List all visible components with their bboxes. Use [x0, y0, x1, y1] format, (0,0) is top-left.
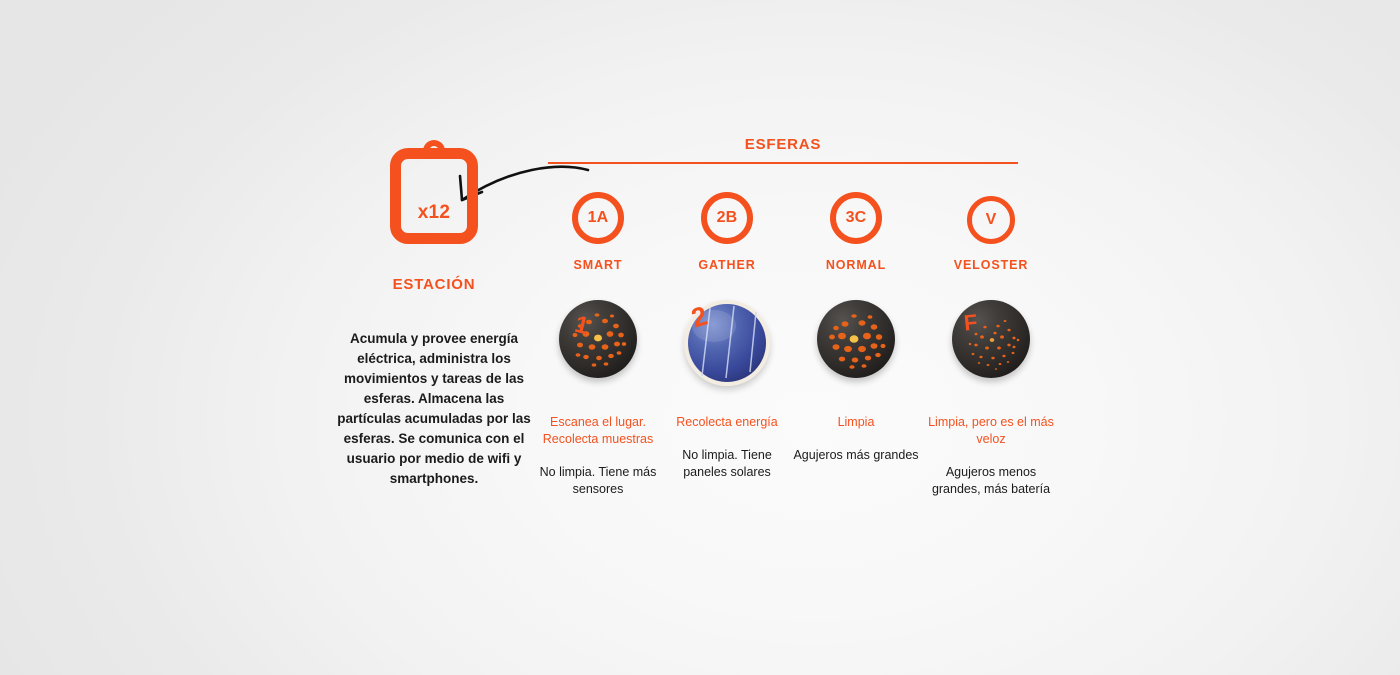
- sphere-image-row: F: [925, 300, 1057, 392]
- station-count-label: x12: [418, 202, 451, 224]
- sphere-ball-smart: 1: [559, 300, 637, 378]
- sphere-caption-primary: Recolecta energía: [661, 414, 793, 431]
- station-name: ESTACIÓN: [330, 276, 538, 293]
- sphere-code-badge[interactable]: V: [967, 196, 1015, 244]
- station-column: x12 ESTACIÓN Acumula y provee energía el…: [330, 140, 538, 489]
- sphere-column-smart: 1A SMART: [532, 186, 664, 498]
- station-icon: x12: [330, 140, 538, 252]
- esferas-header: ESFERAS: [548, 136, 1018, 164]
- sphere-badge-row: 3C: [790, 186, 922, 262]
- infographic-canvas: ESFERAS x12 ESTACIÓN Acumula y provee en…: [0, 0, 1400, 675]
- station-description: Acumula y provee energía eléctrica, admi…: [330, 329, 538, 489]
- sphere-badge-row: 1A: [532, 186, 664, 262]
- station-body-icon: [390, 148, 478, 244]
- sphere-caption-primary: Limpia, pero es el más veloz: [925, 414, 1057, 448]
- sphere-caption-secondary: Agujeros más grandes: [790, 447, 922, 464]
- sphere-image-row: [790, 300, 922, 392]
- sphere-code-badge[interactable]: 3C: [830, 192, 882, 244]
- sphere-badge-row: 2B: [661, 186, 793, 262]
- esferas-divider: [548, 162, 1018, 164]
- sphere-code-badge[interactable]: 2B: [701, 192, 753, 244]
- sphere-column-gather: 2B GATHER 2 Recolecta energía No limpia.…: [661, 186, 793, 481]
- sphere-ball-gather: 2: [684, 300, 770, 386]
- sphere-caption-primary: Escanea el lugar. Recolecta muestras: [532, 414, 664, 448]
- sphere-caption-secondary: Agujeros menos grandes, más batería: [925, 464, 1057, 498]
- esferas-title: ESFERAS: [548, 136, 1018, 154]
- sphere-column-veloster: V VELOSTER: [925, 186, 1057, 498]
- sphere-caption-secondary: No limpia. Tiene más sensores: [532, 464, 664, 498]
- sphere-column-normal: 3C NORMAL: [790, 186, 922, 464]
- sphere-badge-row: V: [925, 186, 1057, 262]
- sphere-ball-normal: [817, 300, 895, 378]
- sphere-ball-mark: F: [963, 311, 979, 334]
- sphere-code-badge[interactable]: 1A: [572, 192, 624, 244]
- sphere-image-row: 1: [532, 300, 664, 392]
- sphere-image-row: 2: [661, 300, 793, 392]
- sphere-ball-veloster: F: [952, 300, 1030, 378]
- sphere-caption-secondary: No limpia. Tiene paneles solares: [661, 447, 793, 481]
- sphere-caption-primary: Limpia: [790, 414, 922, 431]
